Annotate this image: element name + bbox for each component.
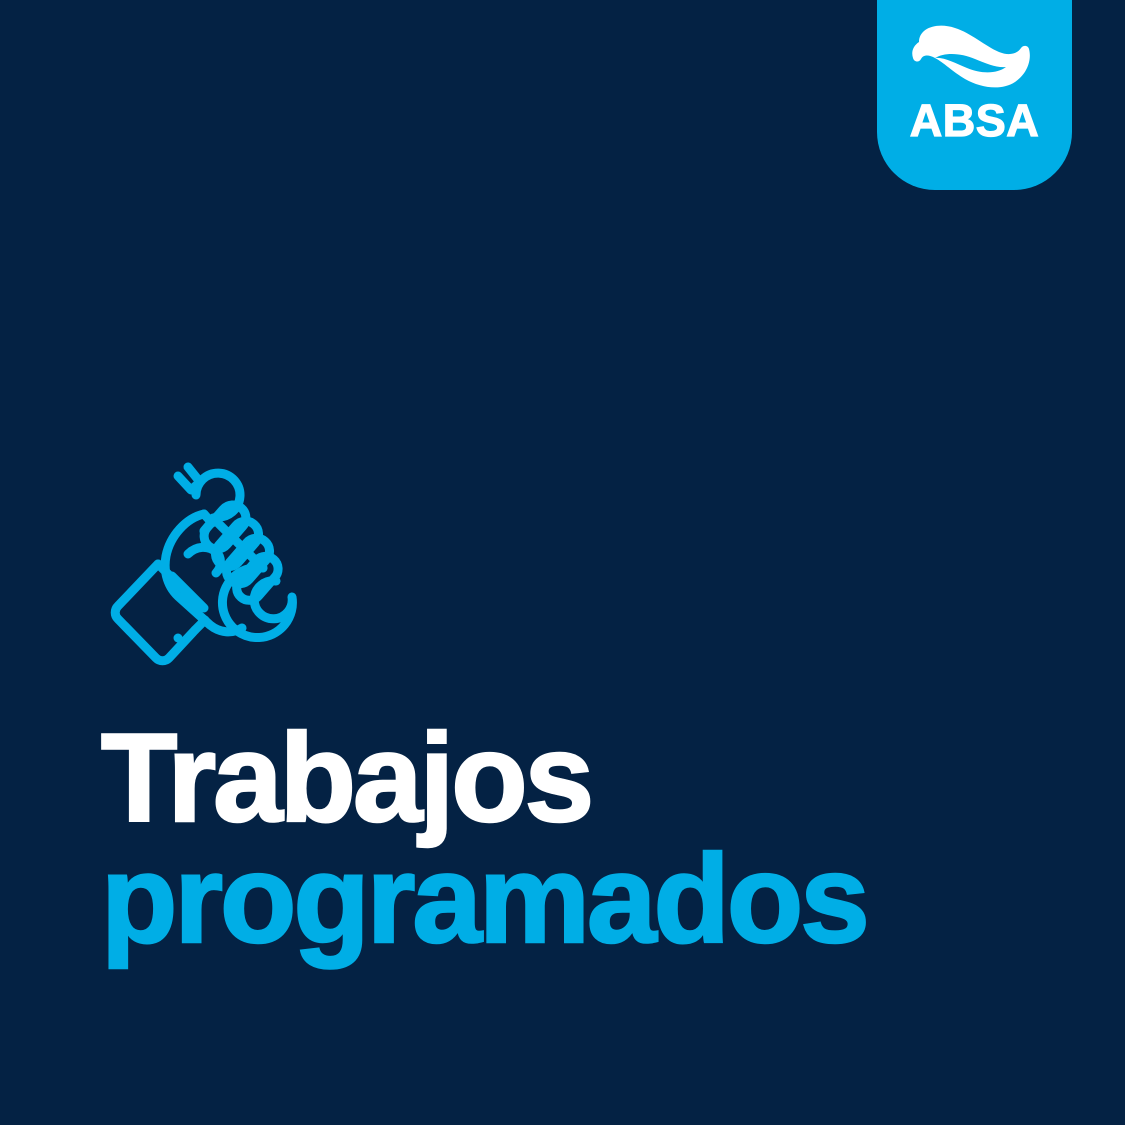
headline-line-1: Trabajos	[101, 718, 1061, 839]
water-wave-icon	[911, 22, 1039, 92]
absa-brand-badge[interactable]: ABSA	[877, 0, 1072, 190]
brand-name-label: ABSA	[910, 98, 1040, 143]
poster-canvas: ABSA	[0, 0, 1125, 1125]
hand-holding-wrench-icon	[100, 440, 340, 680]
headline-block: Trabajos programados	[101, 718, 1061, 961]
headline-line-2: programados	[101, 839, 1061, 960]
